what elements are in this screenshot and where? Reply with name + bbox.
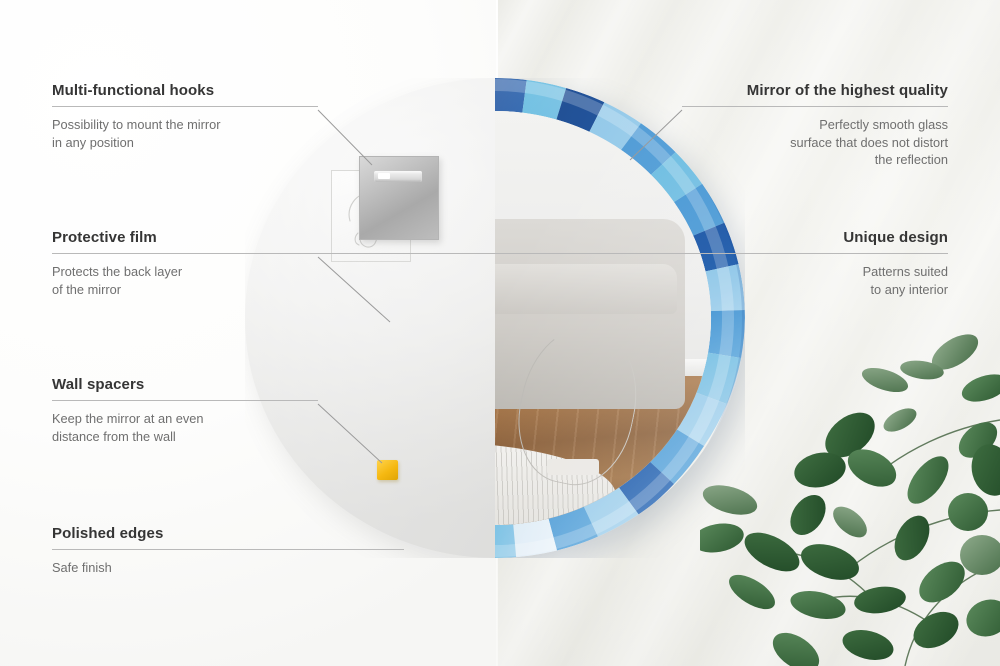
callout-description: Protects the back layer of the mirror (52, 263, 318, 298)
hook-icon (374, 171, 422, 182)
callout-title: Unique design (682, 229, 948, 246)
callout-title: Polished edges (52, 525, 404, 542)
callout-protective-film: Protective film Protects the back layer … (52, 229, 318, 298)
callout-unique-design: Unique design Patterns suited to any int… (682, 229, 948, 298)
product-infographic: Multi-functional hooks Possibility to mo… (0, 0, 1000, 666)
callout-title: Multi-functional hooks (52, 82, 318, 99)
callout-rule (100, 253, 948, 254)
callout-title: Mirror of the highest quality (682, 82, 948, 99)
hook-plate (359, 156, 439, 240)
callout-rule (52, 400, 318, 401)
callout-mirror-quality: Mirror of the highest quality Perfectly … (682, 82, 948, 169)
callout-description: Perfectly smooth glass surface that does… (682, 116, 948, 169)
mirror-product (245, 78, 745, 558)
callout-title: Protective film (52, 229, 318, 246)
callout-rule (52, 549, 404, 550)
reflected-lamp-base (547, 459, 599, 476)
spacer-block (377, 460, 398, 480)
callout-description: Safe finish (52, 559, 404, 577)
callout-polished-edges: Polished edges Safe finish (52, 525, 404, 577)
callout-wall-spacers: Wall spacers Keep the mirror at an even … (52, 376, 318, 445)
callout-rule (52, 106, 318, 107)
callout-description: Keep the mirror at an even distance from… (52, 410, 318, 445)
callout-rule (682, 106, 948, 107)
callout-description: Patterns suited to any interior (682, 263, 948, 298)
callout-multi-functional-hooks: Multi-functional hooks Possibility to mo… (52, 82, 318, 151)
callout-title: Wall spacers (52, 376, 318, 393)
callout-description: Possibility to mount the mirror in any p… (52, 116, 318, 151)
